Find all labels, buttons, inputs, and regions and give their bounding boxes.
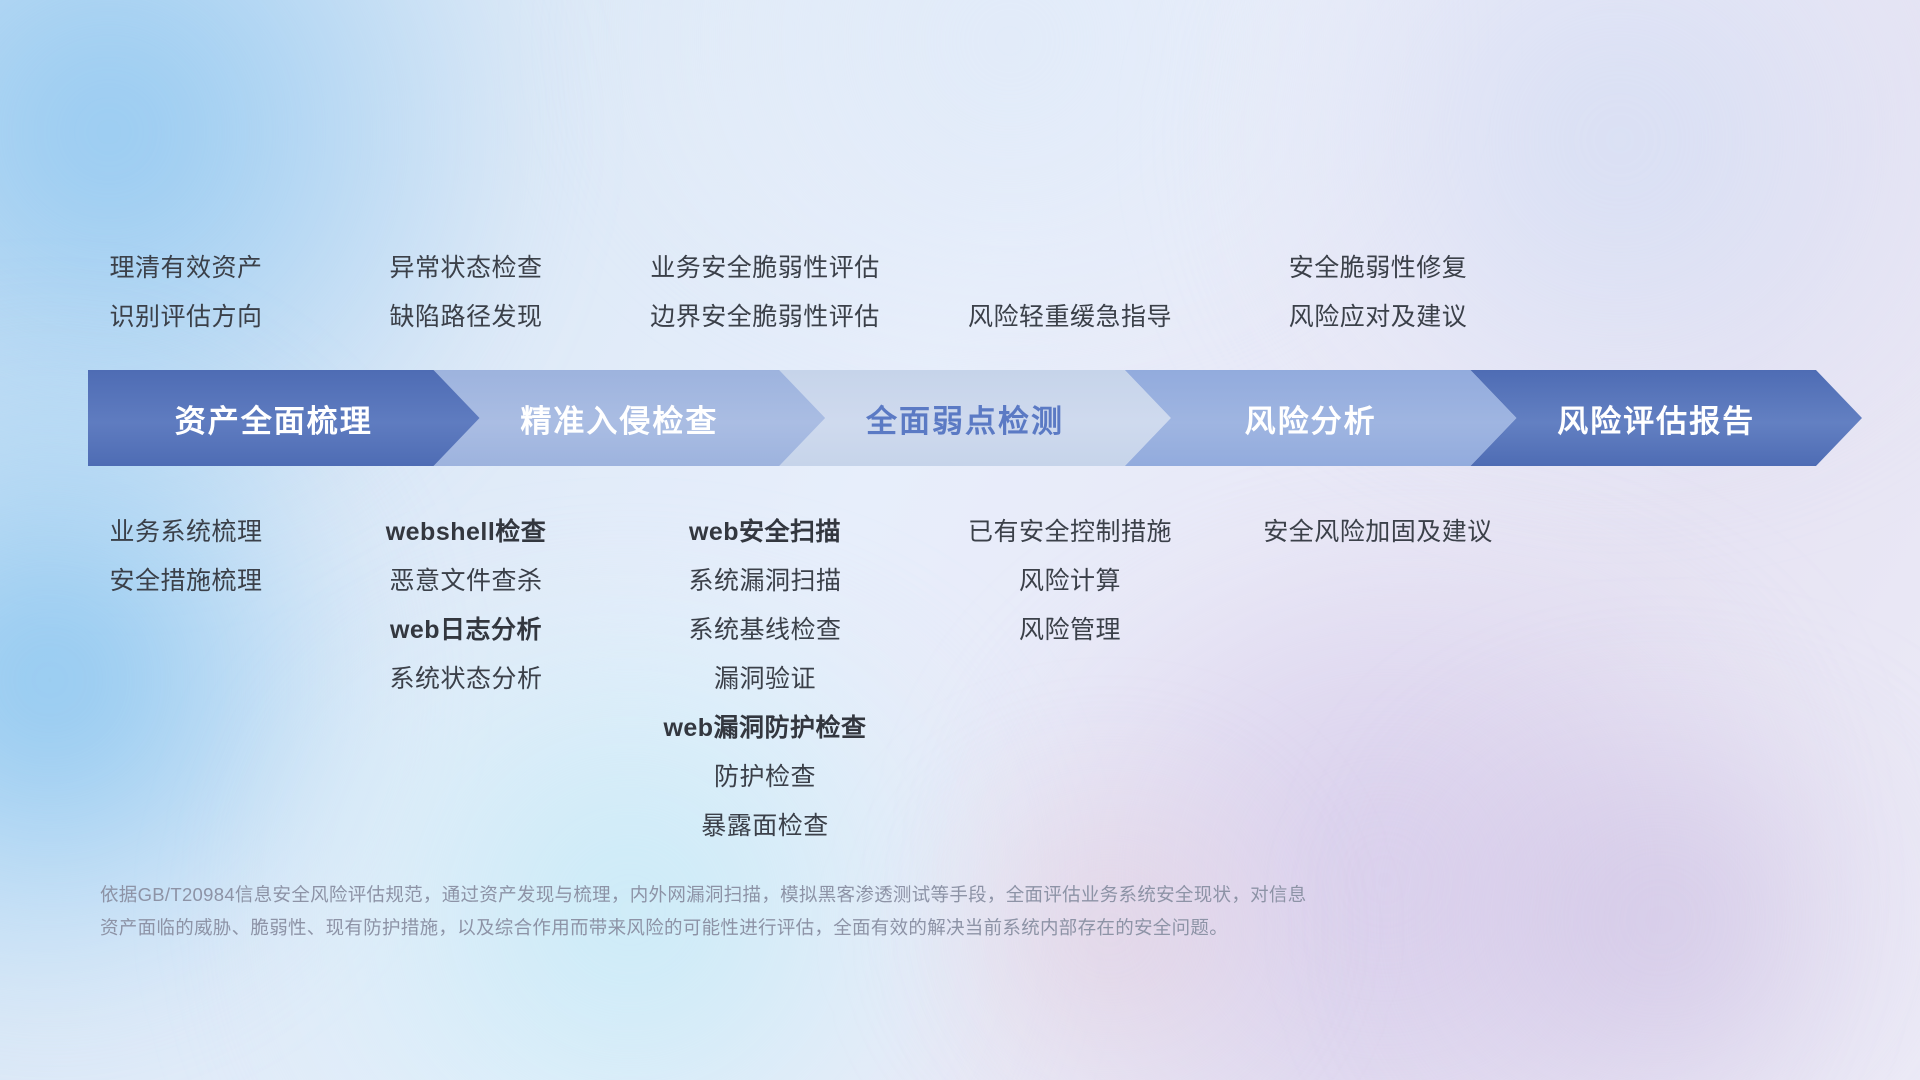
stage-top-list-assessment-report: 安全脆弱性修复风险应对及建议	[1078, 244, 1678, 342]
stage-top-item: 业务安全脆弱性评估	[465, 244, 1065, 293]
stage-bottom-list-assessment-report: 安全风险加固及建议	[1078, 508, 1678, 557]
stage-top-item: 安全脆弱性修复	[1078, 244, 1678, 293]
footer-line-2: 资产面临的威胁、脆弱性、现有防护措施，以及综合作用而带来风险的可能性进行评估，全…	[100, 911, 1640, 944]
stage-label-weakness-detection: 全面弱点检测	[866, 396, 1064, 441]
stage-chevron-risk-analysis[interactable]: 风险分析	[1125, 370, 1517, 466]
stage-bottom-item: 防护检查	[465, 753, 1065, 802]
stage-top-labels: 理清有效资产识别评估方向异常状态检查缺陷路径发现业务安全脆弱性评估边界安全脆弱性…	[0, 232, 1920, 342]
stage-bottom-item: 漏洞验证	[465, 655, 1065, 704]
stage-bottom-item: 风险管理	[770, 606, 1370, 655]
stage-chevron-intrusion-check[interactable]: 精准入侵检查	[434, 370, 826, 466]
stage-bottom-item: 风险计算	[770, 557, 1370, 606]
stage-bottom-item: 安全风险加固及建议	[1078, 508, 1678, 557]
stage-label-intrusion-check: 精准入侵检查	[520, 396, 718, 441]
stage-bottom-item: web漏洞防护检查	[465, 704, 1065, 753]
stage-label-assessment-report: 风险评估报告	[1557, 396, 1755, 441]
stage-chevron-assessment-report[interactable]: 风险评估报告	[1470, 370, 1862, 466]
stage-top-item: 风险应对及建议	[1078, 293, 1678, 342]
footer-line-1: 依据GB/T20984信息安全风险评估规范，通过资产发现与梳理，内外网漏洞扫描，…	[100, 878, 1640, 911]
diagram-root: 理清有效资产识别评估方向异常状态检查缺陷路径发现业务安全脆弱性评估边界安全脆弱性…	[0, 0, 1920, 1080]
stage-label-risk-analysis: 风险分析	[1245, 396, 1377, 441]
footer-description: 依据GB/T20984信息安全风险评估规范，通过资产发现与梳理，内外网漏洞扫描，…	[100, 878, 1640, 944]
stage-chevron-weakness-detection[interactable]: 全面弱点检测	[779, 370, 1171, 466]
stage-chevron-asset-inventory[interactable]: 资产全面梳理	[88, 370, 480, 466]
stage-label-asset-inventory: 资产全面梳理	[175, 396, 373, 441]
process-chevron-band: 资产全面梳理精准入侵检查全面弱点检测风险分析风险评估报告	[0, 370, 1920, 466]
stage-bottom-item: 暴露面检查	[465, 802, 1065, 851]
